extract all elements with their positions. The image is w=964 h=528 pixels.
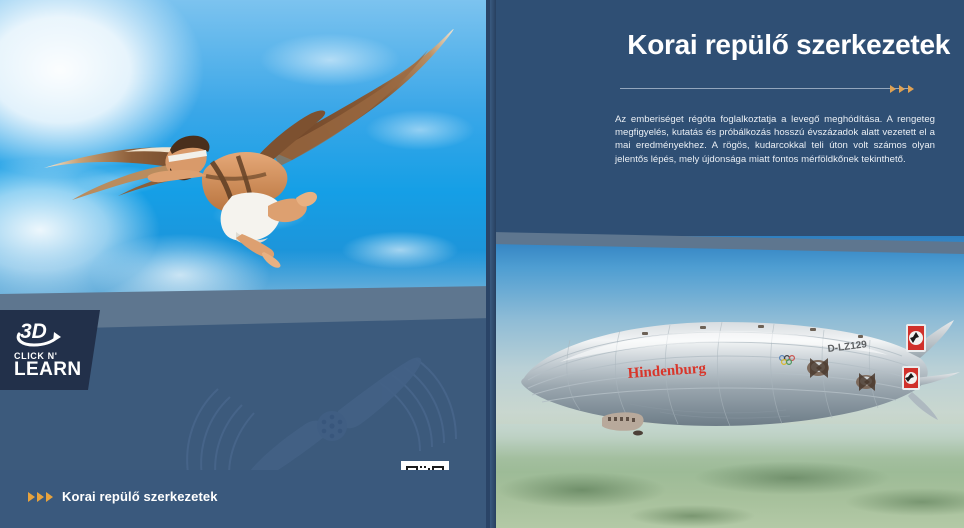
arrow-right-icon bbox=[899, 85, 905, 93]
winged-man-illustration bbox=[0, 0, 492, 320]
svg-text:3D: 3D bbox=[20, 320, 47, 343]
badge-line-2: LEARN bbox=[14, 360, 81, 379]
arrow-right-icon bbox=[37, 492, 44, 502]
arrow-right-icon bbox=[890, 85, 896, 93]
page-spine-shadow bbox=[486, 0, 490, 528]
arrow-right-icon bbox=[908, 85, 914, 93]
left-page: 3D CLICK N' LEARN bbox=[0, 0, 492, 528]
title-rule bbox=[620, 88, 908, 89]
footer-arrows bbox=[28, 492, 53, 502]
page-title: Korai repülő szerkezetek bbox=[620, 30, 950, 61]
footer-title: Korai repülő szerkezetek bbox=[62, 489, 218, 504]
intro-paragraph: Az emberiséget régóta foglalkoztatja a l… bbox=[615, 113, 935, 166]
arrow-right-icon bbox=[46, 492, 53, 502]
click-n-learn-badge[interactable]: 3D CLICK N' LEARN bbox=[0, 310, 100, 390]
title-arrows bbox=[890, 85, 914, 93]
right-page: Korai repülő szerkezetek Az emberiséget … bbox=[492, 0, 964, 528]
left-page-footer: Korai repülő szerkezetek bbox=[0, 470, 492, 528]
magazine-spread: 3D CLICK N' LEARN bbox=[0, 0, 964, 528]
3d-logo-icon: 3D bbox=[14, 318, 74, 348]
arrow-right-icon bbox=[28, 492, 35, 502]
hindenburg-zeppelin: Hindenburg D-LZ129 bbox=[510, 300, 960, 470]
